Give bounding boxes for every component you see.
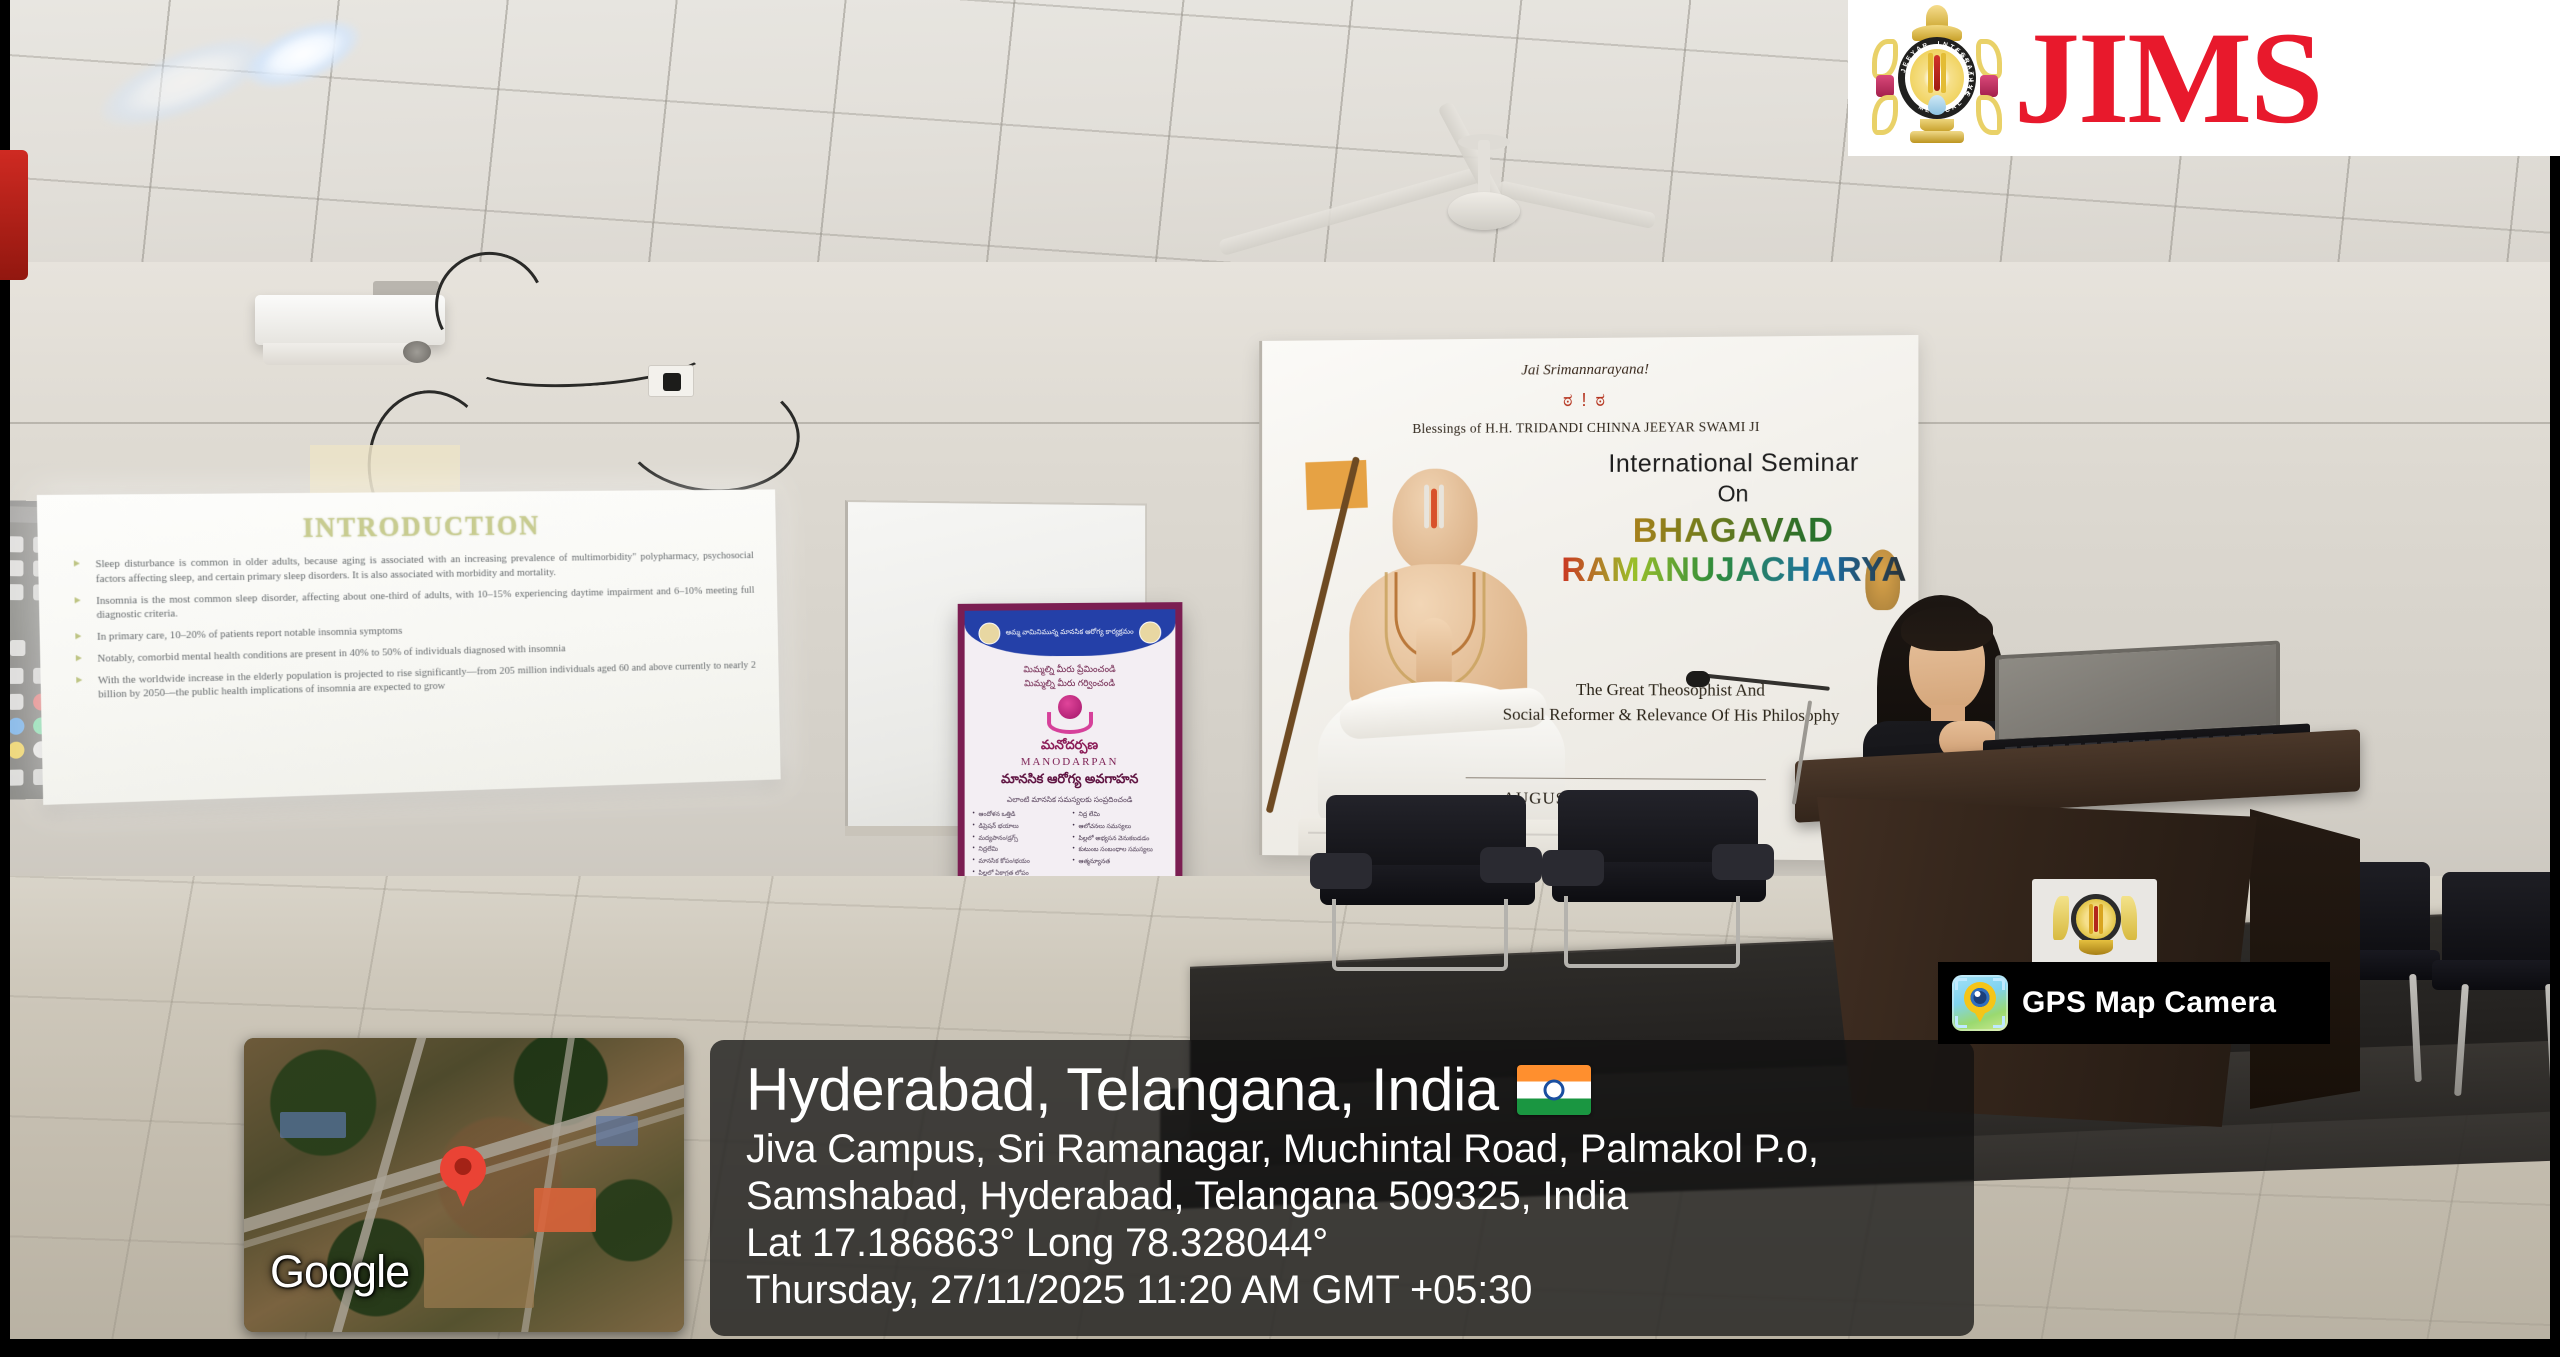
emblem-namam-icon [1928,53,1946,97]
slide-title: INTRODUCTION [71,508,754,547]
gps-map-camera-icon [1952,975,2008,1031]
standee-header-text: అమ్మ వామినిమున్న మానసిక ఆరోగ్య కార్యక్రమ… [1006,628,1134,638]
jims-brand-text: JIMS [2014,12,2321,144]
ceiling-fan [1330,140,1630,270]
banner-blessings-text: Blessings of H.H. TRIDANDI CHINNA JEEYAR… [1259,418,1918,438]
wall-power-socket [648,365,694,397]
banner-ornament-mark: ಠ ! ಠ [1259,388,1918,414]
seal-wing [2121,896,2137,940]
urdhva-pundra-tilak [1424,485,1444,529]
ceiling-projector [255,295,455,365]
standee-list-item: కుటుంబ సంబంధాల సమస్యలు [1072,846,1167,854]
standee-header: అమ్మ వామినిమున్న మానసిక ఆరోగ్య కార్యక్రమ… [965,609,1176,656]
gps-address-line-2: Samshabad, Hyderabad, Telangana 509325, … [746,1173,1946,1220]
projector-lens [403,341,431,363]
standee-name-english: MANODARPAN [965,756,1176,768]
stage-chair [1540,790,1790,980]
jims-seal-icon [2059,890,2131,956]
india-flag-icon [1517,1065,1591,1115]
projector-body [255,295,445,345]
standee-name-telugu: మనోదర్పణ [965,737,1176,756]
emblem-ribbon [1976,39,2002,135]
banner-divider [1466,777,1766,780]
standee-seal-icon [979,622,1001,644]
standee-list-item: ఆందోళన ఒత్తిడి [973,811,1067,819]
banner-tagline-line1: The Great Theosophist And [1436,678,1908,704]
banner-tagline: The Great Theosophist And Social Reforme… [1436,678,1908,729]
map-building [596,1116,638,1146]
podium-side [2250,809,2360,1109]
map-building [534,1188,596,1232]
slide-bullet-list: Sleep disturbance is common in older adu… [72,549,756,704]
gps-place-name: Hyderabad, Telangana, India [746,1058,1499,1122]
slide-bullet: Insomnia is the most common sleep disord… [72,583,754,624]
standee-heading: మానసిక ఆరోగ్య అవగాహన [965,771,1176,790]
standee-list-item: మద్యపానం/డ్రగ్స్ [973,834,1067,842]
seal-base [2079,940,2113,955]
gps-map-camera-watermark: GPS Map Camera [1938,962,2330,1044]
standee-list-item: నిద్రలేమి [973,846,1067,854]
gps-map-camera-label: GPS Map Camera [2022,986,2276,1020]
color-swatch-blue [8,718,25,735]
standee-seal-icon [1139,621,1161,643]
jims-header-logo: JEEYAR INTEGRATIVEMEDICAL SERVICES JIMS [1848,0,2560,156]
jims-emblem-icon: JEEYAR INTEGRATIVEMEDICAL SERVICES [1876,3,1998,153]
home-icon [8,536,24,552]
photograph-canvas: INTRODUCTION Sleep disturbance is common… [0,0,2560,1357]
gps-coordinates: Lat 17.186863° Long 78.328044° [746,1220,1946,1267]
cloud-icon [10,640,26,656]
logo-hands-shape [1047,712,1093,734]
manodarpan-logo-icon [1047,695,1093,735]
audience-person-red [0,150,28,280]
search-icon [8,560,24,576]
microphone-head [1686,671,1710,687]
presenter-hair-front [1901,607,1993,651]
banner-title-block: International Seminar On BHAGAVAD RAMANU… [1555,448,1913,590]
video-icon [8,584,24,600]
standee-subtitle-1: మిమ్మల్ని మీరు ప్రేమించండి [965,662,1176,676]
map-building [280,1112,346,1138]
emblem-base [1910,131,1964,143]
banner-flag-cloth [1305,460,1367,510]
standee-list-item: ఆత్మన్యూనత [1072,858,1167,866]
photo-frame-bottom [0,1339,2560,1357]
gps-datetime: Thursday, 27/11/2025 11:20 AM GMT +05:30 [746,1267,1946,1314]
seal-namam-icon [2089,904,2103,934]
google-watermark: Google [270,1246,409,1298]
fan-motor-hub [1448,192,1520,230]
banner-title-bhagavad: BHAGAVAD [1555,511,1913,551]
standee-description: ఎలాంటి మానసిక సమస్యలకు సంప్రదించండి [971,795,1170,806]
banner-line-on: On [1555,480,1913,508]
banner-pole [1259,341,1262,855]
emblem-droplet [1928,95,1946,115]
gps-place-row: Hyderabad, Telangana, India [746,1058,1946,1122]
standee-list-item: పిల్లలో అభ్యసన వెనుకబడడం [1072,835,1167,843]
settings-icon [8,769,24,785]
banner-tagline-line2: Social Reformer & Relevance Of His Philo… [1436,702,1908,729]
banner-title-ramanujacharya: RAMANUJACHARYA [1555,550,1913,590]
gps-address-line-1: Jiva Campus, Sri Ramanagar, Muchintal Ro… [746,1126,1946,1173]
slide-bullet: With the worldwide increase in the elder… [74,658,756,703]
gps-info-panel: Hyderabad, Telangana, India Jiva Campus,… [710,1040,1974,1336]
stage-chair [1310,795,1560,980]
banner-line-international: International Seminar [1555,448,1913,479]
banner-hail-text: Jai Srimannarayana! [1259,359,1918,381]
projection-screen: INTRODUCTION Sleep disturbance is common… [37,489,781,804]
side-chair [2432,872,2560,1102]
map-building [424,1238,534,1308]
standee-list-item: మానసిక కోపం/భయం [973,858,1067,866]
map-pin-marker [440,1146,486,1192]
edit-icon [8,668,24,684]
emblem-ribbon [1872,39,1898,135]
ramanujacharya-illustration [1298,468,1575,828]
standee-list-item: డిప్రెషన్ భయాలు [973,823,1067,831]
standee-subtitle-2: మిమ్మల్ని మీరు గర్వించండి [965,676,1176,690]
slide-bullet: Sleep disturbance is common in older adu… [72,549,754,587]
map-thumbnail[interactable]: Google [244,1038,684,1332]
frame-icon [8,694,24,710]
gps-address-block: Jiva Campus, Sri Ramanagar, Muchintal Ro… [746,1126,1946,1315]
photo-frame-right [2550,0,2560,1357]
color-swatch-yellow [8,742,25,759]
seal-wing [2053,896,2069,940]
standee-list-item: ఆలోచనలు సమస్యలు [1072,823,1167,831]
eye-shape [1971,988,1990,1007]
fan-downrod [1478,140,1490,198]
standee-list-item: నిద్ర లేమి [1072,811,1167,819]
